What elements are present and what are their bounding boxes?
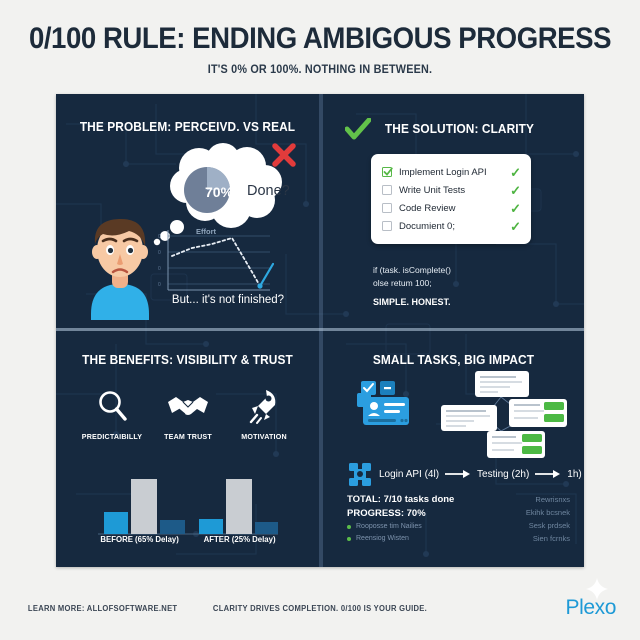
svg-text:0: 0 [158, 234, 161, 240]
checklist-card[interactable]: Implement Login API ✓ Write Unit Tests ✓… [371, 154, 531, 244]
benefit-label: PREDICTAIBILLY [78, 432, 146, 441]
side-note-item: Ekihk bcsnek [526, 506, 570, 519]
svg-text:0: 0 [158, 282, 161, 288]
panel-benefits: THE BENEFITS: VISIBILITY & TRUST PREDICT… [56, 331, 319, 567]
solution-title: THE SOLUTION: CLARITY [385, 122, 534, 136]
checkbox-icon[interactable] [382, 167, 392, 177]
checkbox-icon[interactable] [382, 221, 392, 231]
id-card-checklist-icon [355, 379, 427, 435]
bullet-dot-icon [347, 525, 351, 529]
bar-group-label: AFTER (25% Delay) [204, 535, 276, 544]
benefit-label: MOTIVATION [230, 432, 298, 441]
effort-axis-label: Effort [196, 227, 216, 236]
arrow-right-icon [535, 469, 561, 479]
checklist-row[interactable]: Write Unit Tests ✓ [382, 181, 521, 199]
problem-caption: But... it's not finished? [148, 294, 308, 306]
plexo-logo[interactable]: Plexo [565, 596, 616, 620]
task-bullet: Rooposse tim Nailies [347, 521, 454, 533]
task-stats: TOTAL: 7/10 tasks done PROGRESS: 70% Roo… [347, 493, 454, 545]
svg-text:0: 0 [158, 266, 161, 272]
progress-label: PROGRESS: 70% [347, 507, 454, 521]
checklist-row[interactable]: Code Review ✓ [382, 199, 521, 217]
checklist-row[interactable]: Implement Login API ✓ [382, 163, 521, 181]
page-subtitle: IT'S 0% OR 100%. NOTHING IN BETWEEN. [19, 64, 621, 76]
done-question-label: Done? [247, 183, 290, 199]
learn-more-label[interactable]: LEARN MORE: ALLOFSOFTWARE.NET [28, 604, 177, 613]
panel-problem: THE PROBLEM: PERCEIVD. VS REAL [56, 94, 319, 328]
green-check-icon [345, 118, 371, 140]
infographic-page: 0/100 RULE: ENDING AMBIGOUS PROGRESS IT'… [0, 0, 640, 640]
benefit-item: TEAM TRUST [152, 385, 224, 441]
magnifier-icon [76, 385, 148, 427]
benefit-item: MOTIVATION [228, 385, 300, 441]
task-bullet-label: Reensiog Wisten [356, 533, 409, 545]
page-title: 0/100 RULE: ENDING AMBIGOUS PROGRESS [26, 22, 615, 56]
arrow-right-icon [445, 469, 471, 479]
checklist-row[interactable]: Documient 0; ✓ [382, 217, 521, 235]
checkbox-icon[interactable] [382, 185, 392, 195]
checklist-label: Documient 0; [399, 221, 503, 232]
task-side-notes: Rewrisnxs Ekihk bcsnek Sesk prdsek Sien … [526, 493, 570, 545]
code-tagline: SIMPLE. HONEST. [373, 297, 451, 307]
row-check-icon: ✓ [510, 202, 521, 215]
checklist-label: Code Review [399, 203, 503, 214]
flow-step-label: 1h) [567, 469, 581, 480]
bullet-dot-icon [347, 537, 351, 541]
team-nodes-icon [347, 461, 373, 487]
row-check-icon: ✓ [510, 166, 521, 179]
side-note-item: Rewrisnxs [526, 493, 570, 506]
footer-tagline: CLARITY DRIVES COMPLETION. 0/100 IS YOUR… [213, 604, 427, 613]
row-check-icon: ✓ [510, 220, 521, 233]
task-bullet: Reensiog Wisten [347, 533, 454, 545]
code-snippet: if (task. isComplete() olse retum 100; S… [373, 264, 451, 307]
flow-step-label: Testing (2h) [477, 469, 529, 480]
checkbox-icon[interactable] [382, 203, 392, 213]
panel-tasks: SMALL TASKS, BIG IMPACT [323, 331, 584, 567]
flow-step-label: Login API (4l) [379, 469, 439, 480]
rocket-icon [228, 385, 300, 427]
footer: LEARN MORE: ALLOFSOFTWARE.NET CLARITY DR… [0, 576, 640, 640]
tasks-title: SMALL TASKS, BIG IMPACT [330, 353, 578, 367]
total-tasks-label: TOTAL: 7/10 tasks done [347, 493, 454, 507]
thought-bubble: 70% Done? [161, 142, 291, 239]
connected-note-cards-icon [439, 369, 571, 459]
code-line-2: olse retum 100; [373, 277, 451, 290]
side-note-item: Sien fcrnks [526, 532, 570, 545]
benefits-list: PREDICTAIBILLY TEAM TRUST [74, 385, 302, 441]
before-after-bar-chart [98, 477, 278, 535]
panel-solution: THE SOLUTION: CLARITY Implement Login AP… [323, 94, 584, 328]
benefit-item: PREDICTAIBILLY [76, 385, 148, 441]
side-note-item: Sesk prdsek [526, 519, 570, 532]
bar-chart-labels: BEFORE (65% Delay) AFTER (25% Delay) [88, 535, 288, 544]
header: 0/100 RULE: ENDING AMBIGOUS PROGRESS IT'… [0, 0, 640, 76]
benefit-label: TEAM TRUST [154, 432, 222, 441]
infographic-board: THE PROBLEM: PERCEIVD. VS REAL [56, 94, 584, 567]
checklist-label: Write Unit Tests [399, 185, 503, 196]
problem-title: THE PROBLEM: PERCEIVD. VS REAL [63, 120, 313, 134]
solution-header: THE SOLUTION: CLARITY [345, 118, 538, 140]
effort-line-chart: 00 00 [156, 226, 274, 298]
row-check-icon: ✓ [510, 184, 521, 197]
handshake-icon [152, 385, 224, 427]
task-flow: Login API (4l) Testing (2h) 1h) [347, 461, 582, 487]
task-bullet-label: Rooposse tim Nailies [356, 521, 422, 533]
bar-group-label: BEFORE (65% Delay) [100, 535, 178, 544]
code-line-1: if (task. isComplete() [373, 264, 451, 277]
svg-text:0: 0 [158, 250, 161, 256]
benefits-title: THE BENEFITS: VISIBILITY & TRUST [63, 353, 313, 367]
pie-percent-label: 70% [205, 184, 233, 200]
checklist-label: Implement Login API [399, 167, 503, 178]
